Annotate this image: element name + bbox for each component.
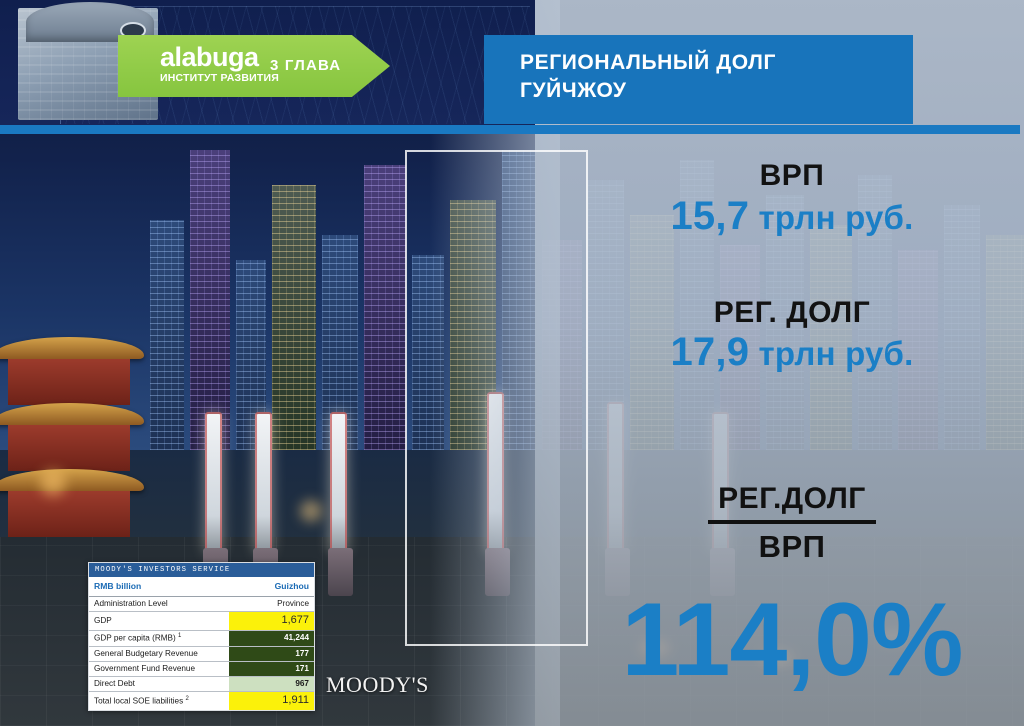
row-label: GDP xyxy=(89,611,229,630)
brand-subtitle: ИНСТИТУТ РАЗВИТИЯ xyxy=(160,73,279,84)
moodys-service-bar: MOODY'S INVESTORS SERVICE xyxy=(89,563,314,577)
row-value: 967 xyxy=(229,677,315,692)
ratio-fraction: РЕГ.ДОЛГ ВРП xyxy=(560,482,1024,565)
brand-name: alabuga xyxy=(160,44,279,71)
header-blue-bar xyxy=(0,125,1020,134)
stat-grp-label: ВРП xyxy=(560,160,1024,192)
chapter-label: 3 ГЛАВА xyxy=(270,57,341,74)
table-row: GDP per capita (RMB) 1 41,244 xyxy=(89,630,314,646)
moodys-logo: MOODY'S xyxy=(326,672,429,698)
row-value: 177 xyxy=(229,646,315,661)
slide-title-line1: РЕГИОНАЛЬНЫЙ ДОЛГ xyxy=(520,49,913,77)
stat-grp: ВРП 15,7 трлн руб. xyxy=(560,160,1024,239)
moodys-header-metric: RMB billion xyxy=(89,577,229,596)
table-row: General Budgetary Revenue 177 xyxy=(89,646,314,661)
table-row: Administration Level Province xyxy=(89,596,314,611)
ratio-numerator: РЕГ.ДОЛГ xyxy=(708,482,876,524)
header-left-panel: alabuga ИНСТИТУТ РАЗВИТИЯ 3 ГЛАВА xyxy=(0,0,535,126)
stat-grp-number: 15,7 xyxy=(670,194,749,238)
stat-regional-debt-number: 17,9 xyxy=(670,330,749,374)
row-value: Province xyxy=(229,596,315,611)
stat-regional-debt-value: 17,9 трлн руб. xyxy=(560,330,1024,375)
stat-regional-debt-unit: трлн руб. xyxy=(759,335,914,372)
slide-root: alabuga ИНСТИТУТ РАЗВИТИЯ 3 ГЛАВА РЕГИОН… xyxy=(0,0,1024,726)
brand-chevron: alabuga ИНСТИТУТ РАЗВИТИЯ 3 ГЛАВА xyxy=(118,35,390,97)
moodys-data-table: MOODY'S INVESTORS SERVICE RMB billion Gu… xyxy=(88,562,315,711)
moodys-header-region: Guizhou xyxy=(229,577,315,596)
slide-title-block: РЕГИОНАЛЬНЫЙ ДОЛГ ГУЙЧЖОУ xyxy=(484,35,913,124)
row-value: 1,677 xyxy=(229,611,315,630)
row-label: General Budgetary Revenue xyxy=(89,646,229,661)
ratio-denominator: ВРП xyxy=(560,529,1024,565)
table-row: Direct Debt 967 xyxy=(89,677,314,692)
table-row: GDP 1,677 xyxy=(89,611,314,630)
row-label: Total local SOE liabilities 2 xyxy=(89,692,229,710)
slide-title-line2: ГУЙЧЖОУ xyxy=(520,77,913,105)
row-value: 41,244 xyxy=(229,630,315,646)
stat-grp-unit: трлн руб. xyxy=(759,199,914,236)
row-label: Government Fund Revenue xyxy=(89,661,229,676)
moodys-table: RMB billion Guizhou Administration Level… xyxy=(89,577,314,710)
moodys-table-header-row: RMB billion Guizhou xyxy=(89,577,314,596)
row-footnote-mark: 2 xyxy=(185,696,188,702)
row-label: GDP per capita (RMB) 1 xyxy=(89,630,229,646)
moodys-table-body: RMB billion Guizhou Administration Level… xyxy=(89,577,314,710)
row-footnote-mark: 1 xyxy=(178,633,181,639)
row-value: 1,911 xyxy=(229,692,315,710)
table-row: Government Fund Revenue 171 xyxy=(89,661,314,676)
ratio-result: 114,0% xyxy=(560,588,1024,692)
stat-regional-debt-label: РЕГ. ДОЛГ xyxy=(560,297,1024,329)
brand-logo: alabuga ИНСТИТУТ РАЗВИТИЯ xyxy=(160,44,279,84)
pagoda-building xyxy=(0,337,144,537)
stat-grp-value: 15,7 трлн руб. xyxy=(560,194,1024,239)
row-label: Direct Debt xyxy=(89,677,229,692)
row-label: Administration Level xyxy=(89,596,229,611)
stat-regional-debt: РЕГ. ДОЛГ 17,9 трлн руб. xyxy=(560,297,1024,376)
statistics-group: ВРП 15,7 трлн руб. РЕГ. ДОЛГ 17,9 трлн р… xyxy=(560,160,1024,403)
table-row: Total local SOE liabilities 2 1,911 xyxy=(89,692,314,710)
row-value: 171 xyxy=(229,661,315,676)
